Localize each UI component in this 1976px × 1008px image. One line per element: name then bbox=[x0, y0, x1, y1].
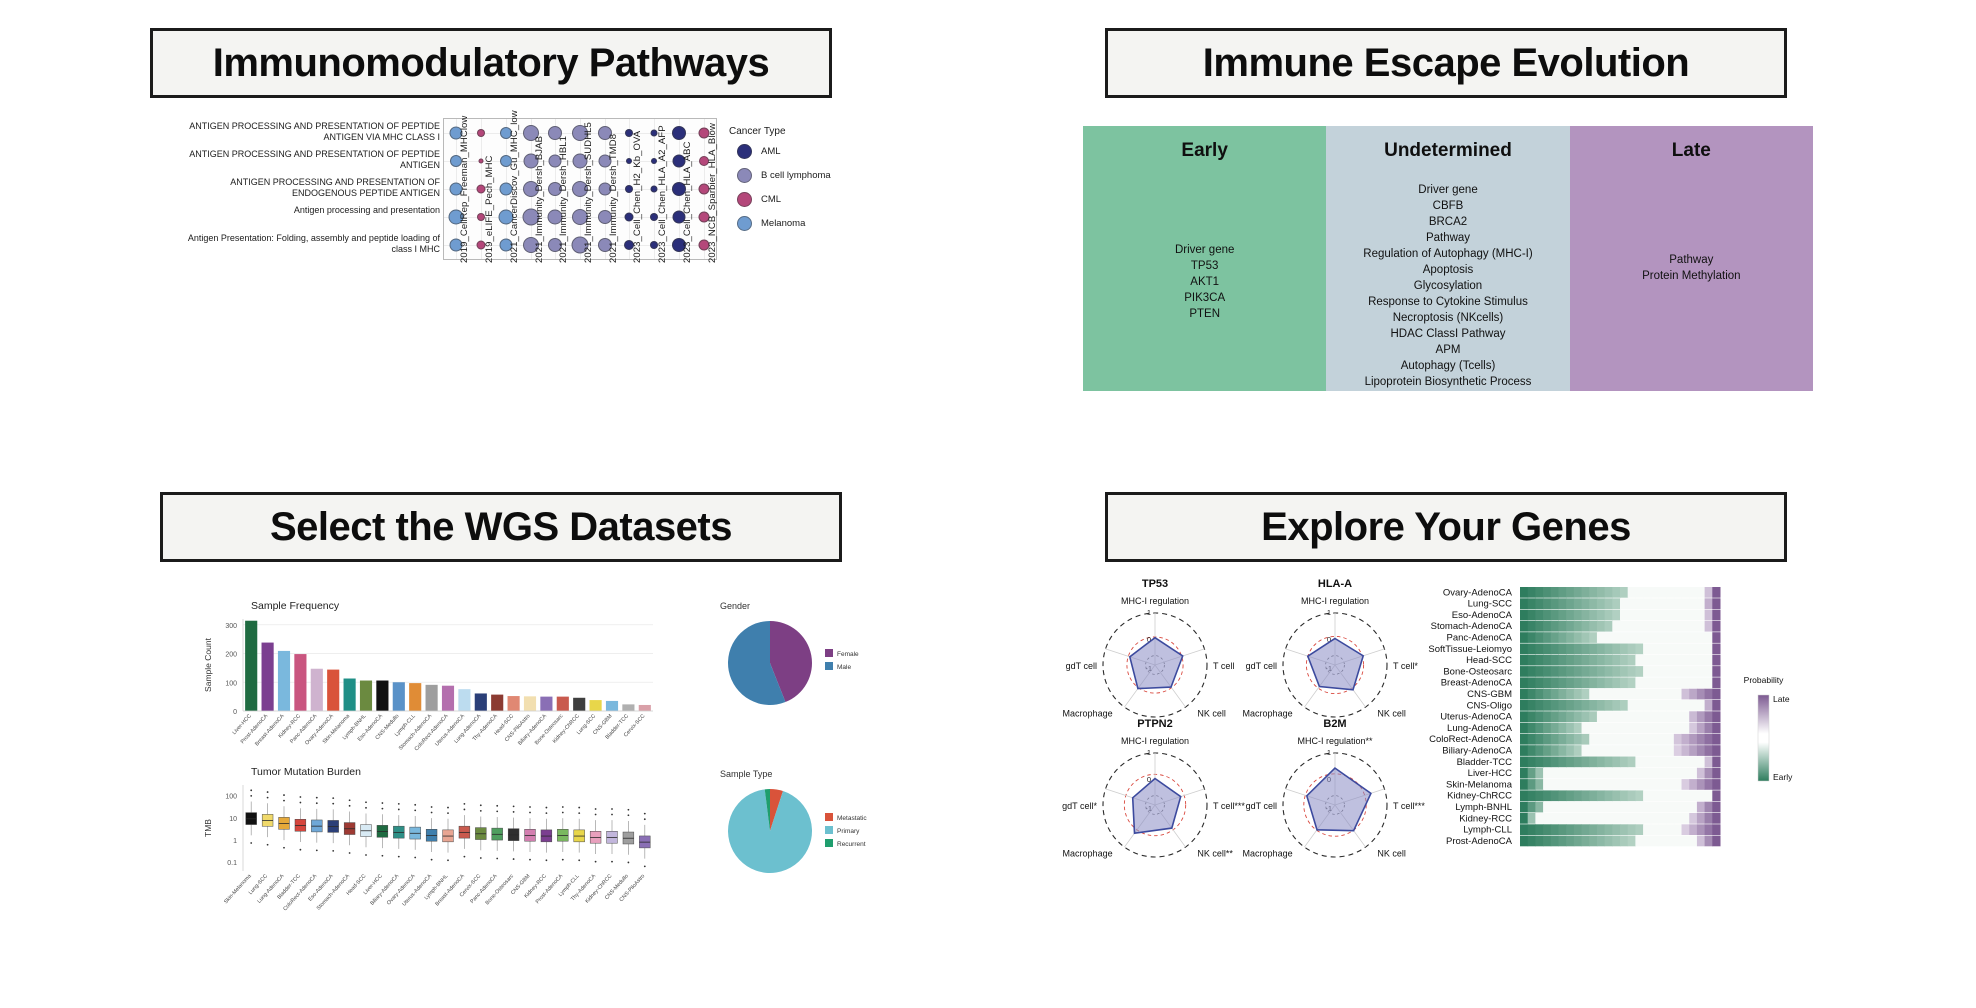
heatmap-cell[interactable] bbox=[1666, 632, 1674, 643]
heatmap-cell[interactable] bbox=[1620, 734, 1628, 745]
heatmap-cell[interactable] bbox=[1528, 666, 1536, 677]
heatmap-cell[interactable] bbox=[1682, 610, 1690, 621]
boxplot-box[interactable] bbox=[262, 803, 273, 837]
heatmap-cell[interactable] bbox=[1643, 824, 1651, 835]
boxplot-box[interactable] bbox=[393, 815, 404, 849]
heatmap-cell[interactable] bbox=[1697, 790, 1705, 801]
heatmap-cell[interactable] bbox=[1582, 802, 1590, 813]
heatmap-cell[interactable] bbox=[1697, 745, 1705, 756]
heatmap-cell[interactable] bbox=[1605, 836, 1613, 847]
heatmap-cell[interactable] bbox=[1520, 632, 1528, 643]
heatmap-cell[interactable] bbox=[1651, 745, 1659, 756]
heatmap-cell[interactable] bbox=[1589, 836, 1597, 847]
heatmap-cell[interactable] bbox=[1612, 757, 1620, 768]
heatmap-cell[interactable] bbox=[1658, 700, 1666, 711]
heatmap-cell[interactable] bbox=[1566, 757, 1574, 768]
heatmap-cell[interactable] bbox=[1551, 632, 1559, 643]
heatmap-cell[interactable] bbox=[1674, 779, 1682, 790]
heatmap-cell[interactable] bbox=[1582, 621, 1590, 632]
heatmap-cell[interactable] bbox=[1697, 632, 1705, 643]
heatmap-cell[interactable] bbox=[1666, 768, 1674, 779]
heatmap-cell[interactable] bbox=[1674, 610, 1682, 621]
heatmap-cell[interactable] bbox=[1528, 689, 1536, 700]
heatmap-cell[interactable] bbox=[1582, 632, 1590, 643]
heatmap-cell[interactable] bbox=[1612, 677, 1620, 688]
heatmap-cell[interactable] bbox=[1597, 711, 1605, 722]
heatmap-cell[interactable] bbox=[1543, 813, 1551, 824]
heatmap-cell[interactable] bbox=[1597, 700, 1605, 711]
heatmap-cell[interactable] bbox=[1574, 700, 1582, 711]
heatmap-cell[interactable] bbox=[1520, 621, 1528, 632]
heatmap-cell[interactable] bbox=[1682, 768, 1690, 779]
heatmap-cell[interactable] bbox=[1535, 790, 1543, 801]
heatmap-cell[interactable] bbox=[1628, 813, 1636, 824]
heatmap-cell[interactable] bbox=[1682, 598, 1690, 609]
heatmap-cell[interactable] bbox=[1689, 666, 1697, 677]
heatmap-cell[interactable] bbox=[1612, 711, 1620, 722]
heatmap-cell[interactable] bbox=[1620, 689, 1628, 700]
heatmap-cell[interactable] bbox=[1535, 700, 1543, 711]
heatmap-cell[interactable] bbox=[1643, 745, 1651, 756]
boxplot-box[interactable] bbox=[557, 818, 568, 852]
heatmap-cell[interactable] bbox=[1528, 824, 1536, 835]
heatmap-cell[interactable] bbox=[1689, 610, 1697, 621]
dotplot-dot[interactable] bbox=[672, 126, 686, 140]
boxplot-box[interactable] bbox=[475, 817, 486, 851]
bar[interactable] bbox=[573, 698, 585, 711]
heatmap-cell[interactable] bbox=[1658, 587, 1666, 598]
boxplot-box[interactable] bbox=[328, 809, 339, 843]
heatmap-cell[interactable] bbox=[1535, 757, 1543, 768]
heatmap-cell[interactable] bbox=[1635, 745, 1643, 756]
heatmap-cell[interactable] bbox=[1689, 745, 1697, 756]
heatmap-cell[interactable] bbox=[1643, 610, 1651, 621]
heatmap-cell[interactable] bbox=[1697, 621, 1705, 632]
heatmap-cell[interactable] bbox=[1651, 836, 1659, 847]
heatmap-cell[interactable] bbox=[1689, 813, 1697, 824]
heatmap-cell[interactable] bbox=[1520, 813, 1528, 824]
heatmap-cell[interactable] bbox=[1558, 768, 1566, 779]
heatmap-cell[interactable] bbox=[1666, 779, 1674, 790]
heatmap-cell[interactable] bbox=[1705, 621, 1713, 632]
heatmap-cell[interactable] bbox=[1666, 610, 1674, 621]
heatmap-cell[interactable] bbox=[1589, 813, 1597, 824]
heatmap-cell[interactable] bbox=[1682, 689, 1690, 700]
boxplot-box[interactable] bbox=[410, 816, 421, 850]
bar[interactable] bbox=[376, 681, 388, 711]
heatmap-cell[interactable] bbox=[1689, 632, 1697, 643]
heatmap-cell[interactable] bbox=[1620, 757, 1628, 768]
heatmap-cell[interactable] bbox=[1551, 813, 1559, 824]
heatmap-cell[interactable] bbox=[1566, 790, 1574, 801]
heatmap-cell[interactable] bbox=[1535, 779, 1543, 790]
heatmap-cell[interactable] bbox=[1651, 598, 1659, 609]
heatmap-cell[interactable] bbox=[1543, 757, 1551, 768]
heatmap-cell[interactable] bbox=[1535, 598, 1543, 609]
heatmap-cell[interactable] bbox=[1535, 587, 1543, 598]
heatmap-cell[interactable] bbox=[1597, 632, 1605, 643]
heatmap-cell[interactable] bbox=[1705, 802, 1713, 813]
heatmap-cell[interactable] bbox=[1535, 621, 1543, 632]
heatmap-cell[interactable] bbox=[1697, 836, 1705, 847]
heatmap-cell[interactable] bbox=[1612, 723, 1620, 734]
heatmap-cell[interactable] bbox=[1658, 824, 1666, 835]
heatmap-cell[interactable] bbox=[1697, 610, 1705, 621]
heatmap-cell[interactable] bbox=[1682, 745, 1690, 756]
heatmap-cell[interactable] bbox=[1635, 779, 1643, 790]
legend-item[interactable]: Melanoma bbox=[737, 216, 831, 231]
heatmap-cell[interactable] bbox=[1574, 768, 1582, 779]
heatmap-cell[interactable] bbox=[1597, 723, 1605, 734]
heatmap-cell[interactable] bbox=[1666, 711, 1674, 722]
boxplot-box[interactable] bbox=[246, 802, 257, 836]
heatmap-cell[interactable] bbox=[1558, 644, 1566, 655]
heatmap-cell[interactable] bbox=[1589, 757, 1597, 768]
heatmap-cell[interactable] bbox=[1620, 666, 1628, 677]
heatmap-cell[interactable] bbox=[1712, 700, 1720, 711]
heatmap-cell[interactable] bbox=[1528, 757, 1536, 768]
radar-chart-tp53[interactable]: TP5310-1MHC-I regulationT cellNK cellMac… bbox=[1063, 578, 1235, 719]
heatmap-cell[interactable] bbox=[1551, 711, 1559, 722]
heatmap-cell[interactable] bbox=[1674, 689, 1682, 700]
heatmap-cell[interactable] bbox=[1682, 677, 1690, 688]
heatmap-cell[interactable] bbox=[1620, 723, 1628, 734]
heatmap-cell[interactable] bbox=[1712, 711, 1720, 722]
dotplot-dot[interactable] bbox=[479, 159, 484, 164]
heatmap-cell[interactable] bbox=[1697, 598, 1705, 609]
heatmap-cell[interactable] bbox=[1705, 700, 1713, 711]
legend-item[interactable]: CML bbox=[737, 192, 831, 207]
heatmap-cell[interactable] bbox=[1558, 587, 1566, 598]
heatmap-cell[interactable] bbox=[1643, 621, 1651, 632]
heatmap-cell[interactable] bbox=[1612, 836, 1620, 847]
heatmap-cell[interactable] bbox=[1589, 587, 1597, 598]
heatmap-cell[interactable] bbox=[1543, 802, 1551, 813]
heatmap-cell[interactable] bbox=[1712, 666, 1720, 677]
heatmap-cell[interactable] bbox=[1651, 711, 1659, 722]
heatmap-cell[interactable] bbox=[1712, 790, 1720, 801]
heatmap-cell[interactable] bbox=[1674, 655, 1682, 666]
heatmap-cell[interactable] bbox=[1612, 768, 1620, 779]
heatmap-cell[interactable] bbox=[1620, 632, 1628, 643]
heatmap-cell[interactable] bbox=[1605, 790, 1613, 801]
heatmap-cell[interactable] bbox=[1697, 757, 1705, 768]
heatmap-cell[interactable] bbox=[1651, 757, 1659, 768]
heatmap-cell[interactable] bbox=[1558, 711, 1566, 722]
heatmap-cell[interactable] bbox=[1674, 802, 1682, 813]
heatmap-cell[interactable] bbox=[1551, 824, 1559, 835]
heatmap-cell[interactable] bbox=[1551, 587, 1559, 598]
heatmap-cell[interactable] bbox=[1635, 700, 1643, 711]
heatmap-cell[interactable] bbox=[1705, 666, 1713, 677]
radar-chart-ptpn2[interactable]: PTPN210-1MHC-I regulationT cell***NK cel… bbox=[1062, 718, 1245, 859]
heatmap-cell[interactable] bbox=[1620, 598, 1628, 609]
heatmap-cell[interactable] bbox=[1705, 598, 1713, 609]
heatmap-cell[interactable] bbox=[1528, 700, 1536, 711]
heatmap-cell[interactable] bbox=[1582, 745, 1590, 756]
heatmap-cell[interactable] bbox=[1612, 824, 1620, 835]
heatmap-cell[interactable] bbox=[1543, 644, 1551, 655]
heatmap-cell[interactable] bbox=[1635, 587, 1643, 598]
heatmap-cell[interactable] bbox=[1682, 802, 1690, 813]
heatmap-cell[interactable] bbox=[1658, 677, 1666, 688]
heatmap-cell[interactable] bbox=[1605, 610, 1613, 621]
radar-chart-b2m[interactable]: B2M10-1MHC-I regulation**T cell***NK cel… bbox=[1243, 718, 1426, 859]
heatmap-cell[interactable] bbox=[1674, 836, 1682, 847]
legend-item[interactable]: AML bbox=[737, 144, 831, 159]
heatmap-cell[interactable] bbox=[1620, 745, 1628, 756]
heatmap-cell[interactable] bbox=[1566, 621, 1574, 632]
heatmap-cell[interactable] bbox=[1628, 610, 1636, 621]
heatmap-cell[interactable] bbox=[1712, 802, 1720, 813]
heatmap-cell[interactable] bbox=[1528, 779, 1536, 790]
heatmap-cell[interactable] bbox=[1558, 655, 1566, 666]
heatmap-cell[interactable] bbox=[1566, 700, 1574, 711]
heatmap-cell[interactable] bbox=[1666, 655, 1674, 666]
heatmap-cell[interactable] bbox=[1558, 802, 1566, 813]
heatmap-cell[interactable] bbox=[1551, 723, 1559, 734]
heatmap-cell[interactable] bbox=[1620, 836, 1628, 847]
heatmap-cell[interactable] bbox=[1666, 745, 1674, 756]
heatmap-cell[interactable] bbox=[1543, 745, 1551, 756]
heatmap-cell[interactable] bbox=[1589, 655, 1597, 666]
heatmap-cell[interactable] bbox=[1689, 689, 1697, 700]
heatmap-cell[interactable] bbox=[1558, 757, 1566, 768]
heatmap-cell[interactable] bbox=[1558, 824, 1566, 835]
heatmap-cell[interactable] bbox=[1543, 779, 1551, 790]
heatmap-cell[interactable] bbox=[1589, 677, 1597, 688]
boxplot-box[interactable] bbox=[344, 811, 355, 845]
heatmap-cell[interactable] bbox=[1566, 587, 1574, 598]
heatmap-cell[interactable] bbox=[1674, 768, 1682, 779]
heatmap-cell[interactable] bbox=[1597, 836, 1605, 847]
heatmap-cell[interactable] bbox=[1674, 745, 1682, 756]
heatmap-cell[interactable] bbox=[1528, 734, 1536, 745]
heatmap-cell[interactable] bbox=[1658, 757, 1666, 768]
heatmap-cell[interactable] bbox=[1666, 813, 1674, 824]
heatmap-cell[interactable] bbox=[1551, 745, 1559, 756]
boxplot-box[interactable] bbox=[295, 808, 306, 842]
heatmap-cell[interactable] bbox=[1697, 711, 1705, 722]
heatmap-cell[interactable] bbox=[1551, 779, 1559, 790]
heatmap-cell[interactable] bbox=[1658, 734, 1666, 745]
heatmap-cell[interactable] bbox=[1597, 802, 1605, 813]
heatmap-cell[interactable] bbox=[1620, 711, 1628, 722]
boxplot-box[interactable] bbox=[492, 817, 503, 851]
heatmap-cell[interactable] bbox=[1689, 621, 1697, 632]
heatmap-cell[interactable] bbox=[1697, 802, 1705, 813]
heatmap-cell[interactable] bbox=[1666, 689, 1674, 700]
heatmap-cell[interactable] bbox=[1605, 813, 1613, 824]
heatmap-cell[interactable] bbox=[1628, 779, 1636, 790]
heatmap-cell[interactable] bbox=[1635, 768, 1643, 779]
heatmap-cell[interactable] bbox=[1582, 711, 1590, 722]
heatmap-cell[interactable] bbox=[1520, 745, 1528, 756]
heatmap-cell[interactable] bbox=[1666, 824, 1674, 835]
heatmap-cell[interactable] bbox=[1535, 836, 1543, 847]
heatmap-cell[interactable] bbox=[1697, 666, 1705, 677]
heatmap-cell[interactable] bbox=[1612, 813, 1620, 824]
heatmap-cell[interactable] bbox=[1558, 689, 1566, 700]
heatmap-cell[interactable] bbox=[1705, 824, 1713, 835]
heatmap-cell[interactable] bbox=[1620, 655, 1628, 666]
heatmap-cell[interactable] bbox=[1697, 824, 1705, 835]
bar[interactable] bbox=[344, 679, 356, 711]
heatmap-cell[interactable] bbox=[1628, 836, 1636, 847]
heatmap-cell[interactable] bbox=[1574, 689, 1582, 700]
heatmap-cell[interactable] bbox=[1682, 666, 1690, 677]
heatmap-cell[interactable] bbox=[1589, 768, 1597, 779]
heatmap-cell[interactable] bbox=[1651, 779, 1659, 790]
heatmap-cell[interactable] bbox=[1651, 768, 1659, 779]
heatmap-cell[interactable] bbox=[1628, 757, 1636, 768]
heatmap-cell[interactable] bbox=[1535, 666, 1543, 677]
heatmap-cell[interactable] bbox=[1566, 813, 1574, 824]
heatmap-cell[interactable] bbox=[1651, 666, 1659, 677]
heatmap-cell[interactable] bbox=[1620, 677, 1628, 688]
heatmap-cell[interactable] bbox=[1589, 824, 1597, 835]
heatmap-cell[interactable] bbox=[1628, 723, 1636, 734]
heatmap-cell[interactable] bbox=[1535, 610, 1543, 621]
heatmap-cell[interactable] bbox=[1682, 655, 1690, 666]
heatmap-cell[interactable] bbox=[1551, 644, 1559, 655]
heatmap-cell[interactable] bbox=[1689, 587, 1697, 598]
heatmap-cell[interactable] bbox=[1666, 802, 1674, 813]
heatmap-cell[interactable] bbox=[1712, 621, 1720, 632]
heatmap-cell[interactable] bbox=[1582, 813, 1590, 824]
heatmap-cell[interactable] bbox=[1605, 711, 1613, 722]
heatmap-cell[interactable] bbox=[1582, 836, 1590, 847]
heatmap-cell[interactable] bbox=[1528, 587, 1536, 598]
radar-chart-hla-a[interactable]: HLA-A10-1MHC-I regulationT cell*NK cellM… bbox=[1243, 578, 1419, 719]
heatmap-cell[interactable] bbox=[1597, 734, 1605, 745]
bar[interactable] bbox=[426, 685, 438, 711]
heatmap-cell[interactable] bbox=[1597, 779, 1605, 790]
heatmap-cell[interactable] bbox=[1582, 768, 1590, 779]
heatmap-cell[interactable] bbox=[1543, 689, 1551, 700]
heatmap-cell[interactable] bbox=[1566, 655, 1574, 666]
heatmap-cell[interactable] bbox=[1597, 666, 1605, 677]
heatmap-cell[interactable] bbox=[1535, 644, 1543, 655]
heatmap-cell[interactable] bbox=[1528, 644, 1536, 655]
heatmap-cell[interactable] bbox=[1612, 632, 1620, 643]
heatmap-cell[interactable] bbox=[1612, 598, 1620, 609]
heatmap-cell[interactable] bbox=[1628, 644, 1636, 655]
heatmap-cell[interactable] bbox=[1712, 813, 1720, 824]
bar[interactable] bbox=[491, 695, 503, 711]
heatmap-cell[interactable] bbox=[1635, 824, 1643, 835]
heatmap-cell[interactable] bbox=[1697, 779, 1705, 790]
heatmap-cell[interactable] bbox=[1551, 836, 1559, 847]
heatmap-cell[interactable] bbox=[1551, 700, 1559, 711]
heatmap-cell[interactable] bbox=[1528, 632, 1536, 643]
heatmap-cell[interactable] bbox=[1651, 621, 1659, 632]
heatmap-cell[interactable] bbox=[1566, 779, 1574, 790]
heatmap-cell[interactable] bbox=[1597, 598, 1605, 609]
heatmap-cell[interactable] bbox=[1597, 745, 1605, 756]
heatmap-cell[interactable] bbox=[1682, 587, 1690, 598]
boxplot-box[interactable] bbox=[377, 814, 388, 848]
heatmap-cell[interactable] bbox=[1528, 836, 1536, 847]
heatmap-cell[interactable] bbox=[1520, 644, 1528, 655]
heatmap-cell[interactable] bbox=[1674, 587, 1682, 598]
heatmap-cell[interactable] bbox=[1682, 836, 1690, 847]
heatmap-cell[interactable] bbox=[1566, 711, 1574, 722]
heatmap-cell[interactable] bbox=[1682, 621, 1690, 632]
heatmap-cell[interactable] bbox=[1551, 598, 1559, 609]
heatmap-cell[interactable] bbox=[1612, 734, 1620, 745]
heatmap-cell[interactable] bbox=[1674, 700, 1682, 711]
heatmap-cell[interactable] bbox=[1612, 745, 1620, 756]
boxplot-box[interactable] bbox=[574, 819, 585, 853]
heatmap-cell[interactable] bbox=[1597, 587, 1605, 598]
heatmap-cell[interactable] bbox=[1682, 632, 1690, 643]
heatmap-cell[interactable] bbox=[1628, 711, 1636, 722]
heatmap-cell[interactable] bbox=[1589, 610, 1597, 621]
heatmap-cell[interactable] bbox=[1682, 734, 1690, 745]
heatmap-cell[interactable] bbox=[1551, 666, 1559, 677]
heatmap-cell[interactable] bbox=[1520, 723, 1528, 734]
bar[interactable] bbox=[458, 689, 470, 711]
heatmap-cell[interactable] bbox=[1658, 802, 1666, 813]
heatmap-cell[interactable] bbox=[1574, 824, 1582, 835]
heatmap-cell[interactable] bbox=[1651, 700, 1659, 711]
boxplot-box[interactable] bbox=[607, 820, 618, 854]
heatmap-cell[interactable] bbox=[1674, 824, 1682, 835]
heatmap-cell[interactable] bbox=[1582, 689, 1590, 700]
heatmap-cell[interactable] bbox=[1705, 644, 1713, 655]
heatmap-cell[interactable] bbox=[1651, 802, 1659, 813]
heatmap-cell[interactable] bbox=[1658, 745, 1666, 756]
heatmap-cell[interactable] bbox=[1589, 734, 1597, 745]
heatmap-cell[interactable] bbox=[1605, 689, 1613, 700]
heatmap-cell[interactable] bbox=[1558, 745, 1566, 756]
heatmap-cell[interactable] bbox=[1597, 768, 1605, 779]
heatmap-cell[interactable] bbox=[1689, 824, 1697, 835]
heatmap-cell[interactable] bbox=[1612, 644, 1620, 655]
escape-column-late[interactable]: LatePathwayProtein Methylation bbox=[1570, 126, 1813, 391]
heatmap-cell[interactable] bbox=[1558, 779, 1566, 790]
heatmap-cell[interactable] bbox=[1643, 700, 1651, 711]
heatmap-cell[interactable] bbox=[1574, 655, 1582, 666]
heatmap-cell[interactable] bbox=[1528, 655, 1536, 666]
heatmap-cell[interactable] bbox=[1551, 610, 1559, 621]
boxplot-box[interactable] bbox=[508, 818, 519, 852]
heatmap-cell[interactable] bbox=[1597, 655, 1605, 666]
bar[interactable] bbox=[606, 701, 618, 711]
heatmap-cell[interactable] bbox=[1674, 734, 1682, 745]
heatmap-cell[interactable] bbox=[1582, 779, 1590, 790]
heatmap-cell[interactable] bbox=[1697, 587, 1705, 598]
heatmap-cell[interactable] bbox=[1666, 757, 1674, 768]
heatmap-cell[interactable] bbox=[1605, 655, 1613, 666]
boxplot-box[interactable] bbox=[525, 818, 536, 852]
heatmap-cell[interactable] bbox=[1589, 621, 1597, 632]
heatmap-cell[interactable] bbox=[1543, 598, 1551, 609]
heatmap-cell[interactable] bbox=[1520, 779, 1528, 790]
heatmap-cell[interactable] bbox=[1628, 689, 1636, 700]
heatmap-cell[interactable] bbox=[1620, 700, 1628, 711]
bar[interactable] bbox=[557, 697, 569, 711]
heatmap-cell[interactable] bbox=[1582, 757, 1590, 768]
heatmap-cell[interactable] bbox=[1574, 632, 1582, 643]
heatmap-cell[interactable] bbox=[1651, 689, 1659, 700]
heatmap-cell[interactable] bbox=[1712, 598, 1720, 609]
heatmap-cell[interactable] bbox=[1658, 723, 1666, 734]
heatmap-cell[interactable] bbox=[1582, 598, 1590, 609]
heatmap-cell[interactable] bbox=[1705, 711, 1713, 722]
heatmap-cell[interactable] bbox=[1566, 610, 1574, 621]
